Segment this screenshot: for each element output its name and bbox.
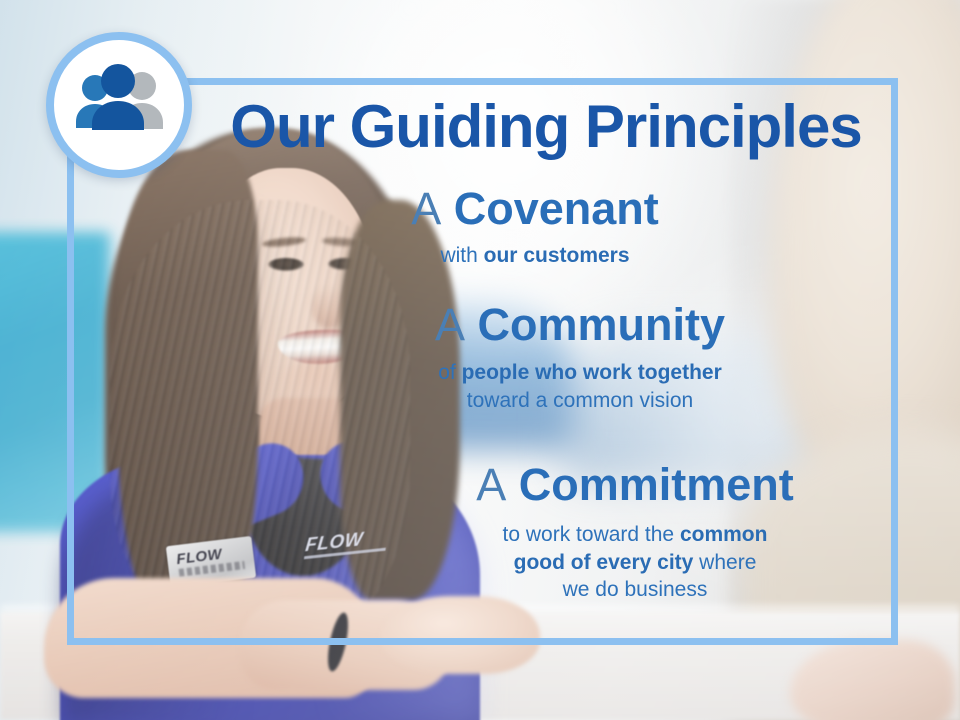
guiding-principles-banner: FLOW FLOW Our Guiding Principles xyxy=(0,0,960,720)
people-group-icon xyxy=(67,62,171,148)
principle-keyword-commitment: Commitment xyxy=(519,459,794,510)
principle-heading-covenant: A Covenant xyxy=(300,186,770,233)
principle-block-community: A Community of people who work togethert… xyxy=(330,302,830,414)
principle-article-commitment: A xyxy=(476,459,506,510)
text-run: toward a common vision xyxy=(467,389,693,412)
principle-block-covenant: A Covenant with our customers xyxy=(300,186,770,270)
text-run: with xyxy=(440,244,483,267)
woman-clasped-hands xyxy=(380,596,540,674)
principle-article-community: A xyxy=(435,299,465,350)
principle-subtext-line: of people who work together xyxy=(330,359,830,387)
text-run-bold: good of every city xyxy=(514,551,694,574)
text-run: where xyxy=(693,551,756,574)
principle-block-commitment: A Commitment to work toward the commongo… xyxy=(400,462,870,604)
principle-keyword-covenant: Covenant xyxy=(454,183,659,234)
text-run-bold: people who work together xyxy=(462,361,722,384)
principle-article-covenant: A xyxy=(411,183,441,234)
principle-subtext-line: we do business xyxy=(400,576,870,604)
text-run-bold: our customers xyxy=(484,244,630,267)
principle-subtext-covenant: with our customers xyxy=(300,242,770,270)
principle-subtext-community: of people who work togethertoward a comm… xyxy=(330,359,830,414)
principle-subtext-commitment: to work toward the commongood of every c… xyxy=(400,521,870,604)
text-run: we do business xyxy=(563,578,708,601)
text-run: to work toward the xyxy=(503,523,680,546)
principle-subtext-line: toward a common vision xyxy=(330,387,830,415)
principle-subtext-line: with our customers xyxy=(300,242,770,270)
principle-heading-community: A Community xyxy=(330,302,830,349)
text-run-bold: common xyxy=(680,523,768,546)
people-group-icon-badge xyxy=(46,32,192,178)
page-title: Our Guiding Principles xyxy=(216,96,876,157)
text-run: of xyxy=(438,361,461,384)
principle-keyword-community: Community xyxy=(478,299,726,350)
principle-heading-commitment: A Commitment xyxy=(400,462,870,509)
principle-subtext-line: good of every city where xyxy=(400,549,870,577)
principle-subtext-line: to work toward the common xyxy=(400,521,870,549)
